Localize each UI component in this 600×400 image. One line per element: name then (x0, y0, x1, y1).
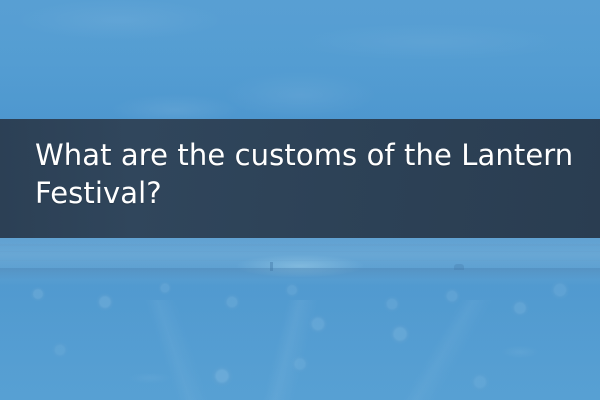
caption-banner: What are the customs of the Lantern Fest… (0, 119, 600, 238)
caption-text: What are the customs of the Lantern Fest… (35, 136, 586, 212)
image-card: What are the customs of the Lantern Fest… (0, 0, 600, 400)
